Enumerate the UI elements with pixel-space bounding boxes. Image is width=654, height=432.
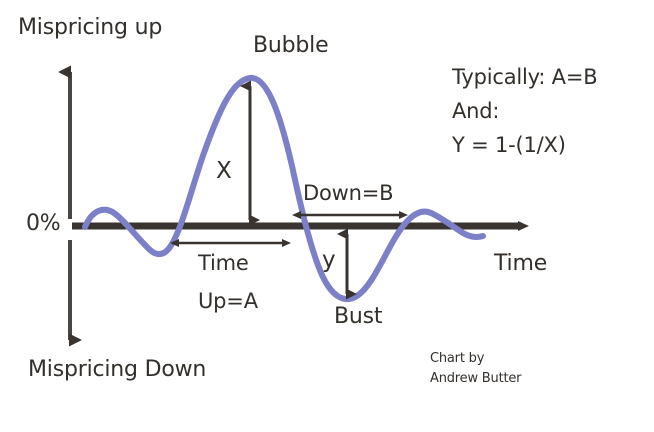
formula-line-3: Y = 1-(1/X) bbox=[452, 130, 566, 160]
amplitude-up-label: X bbox=[216, 159, 232, 185]
bubble-peak-label: Bubble bbox=[253, 34, 328, 59]
time-up-label-line1: Time bbox=[198, 252, 249, 276]
time-down-label: Down=B bbox=[303, 182, 393, 206]
y-axis-top-label: Mispricing up bbox=[18, 16, 162, 41]
x-axis-label: Time bbox=[494, 252, 547, 277]
formula-line-2: And: bbox=[452, 96, 499, 126]
credit-line-1: Chart by bbox=[430, 350, 484, 368]
zero-percent-label: 0% bbox=[26, 212, 61, 237]
y-axis-bottom-label: Mispricing Down bbox=[28, 358, 206, 383]
time-up-label-line2: Up=A bbox=[198, 290, 258, 314]
mispricing-curve bbox=[85, 78, 483, 299]
chart-canvas: Mispricing up Mispricing Down 0% Bubble … bbox=[0, 0, 654, 432]
formula-line-1: Typically: A=B bbox=[452, 62, 597, 92]
bust-trough-label: Bust bbox=[334, 305, 382, 330]
amplitude-down-label: y bbox=[322, 248, 335, 274]
credit-line-2: Andrew Butter bbox=[430, 370, 521, 388]
